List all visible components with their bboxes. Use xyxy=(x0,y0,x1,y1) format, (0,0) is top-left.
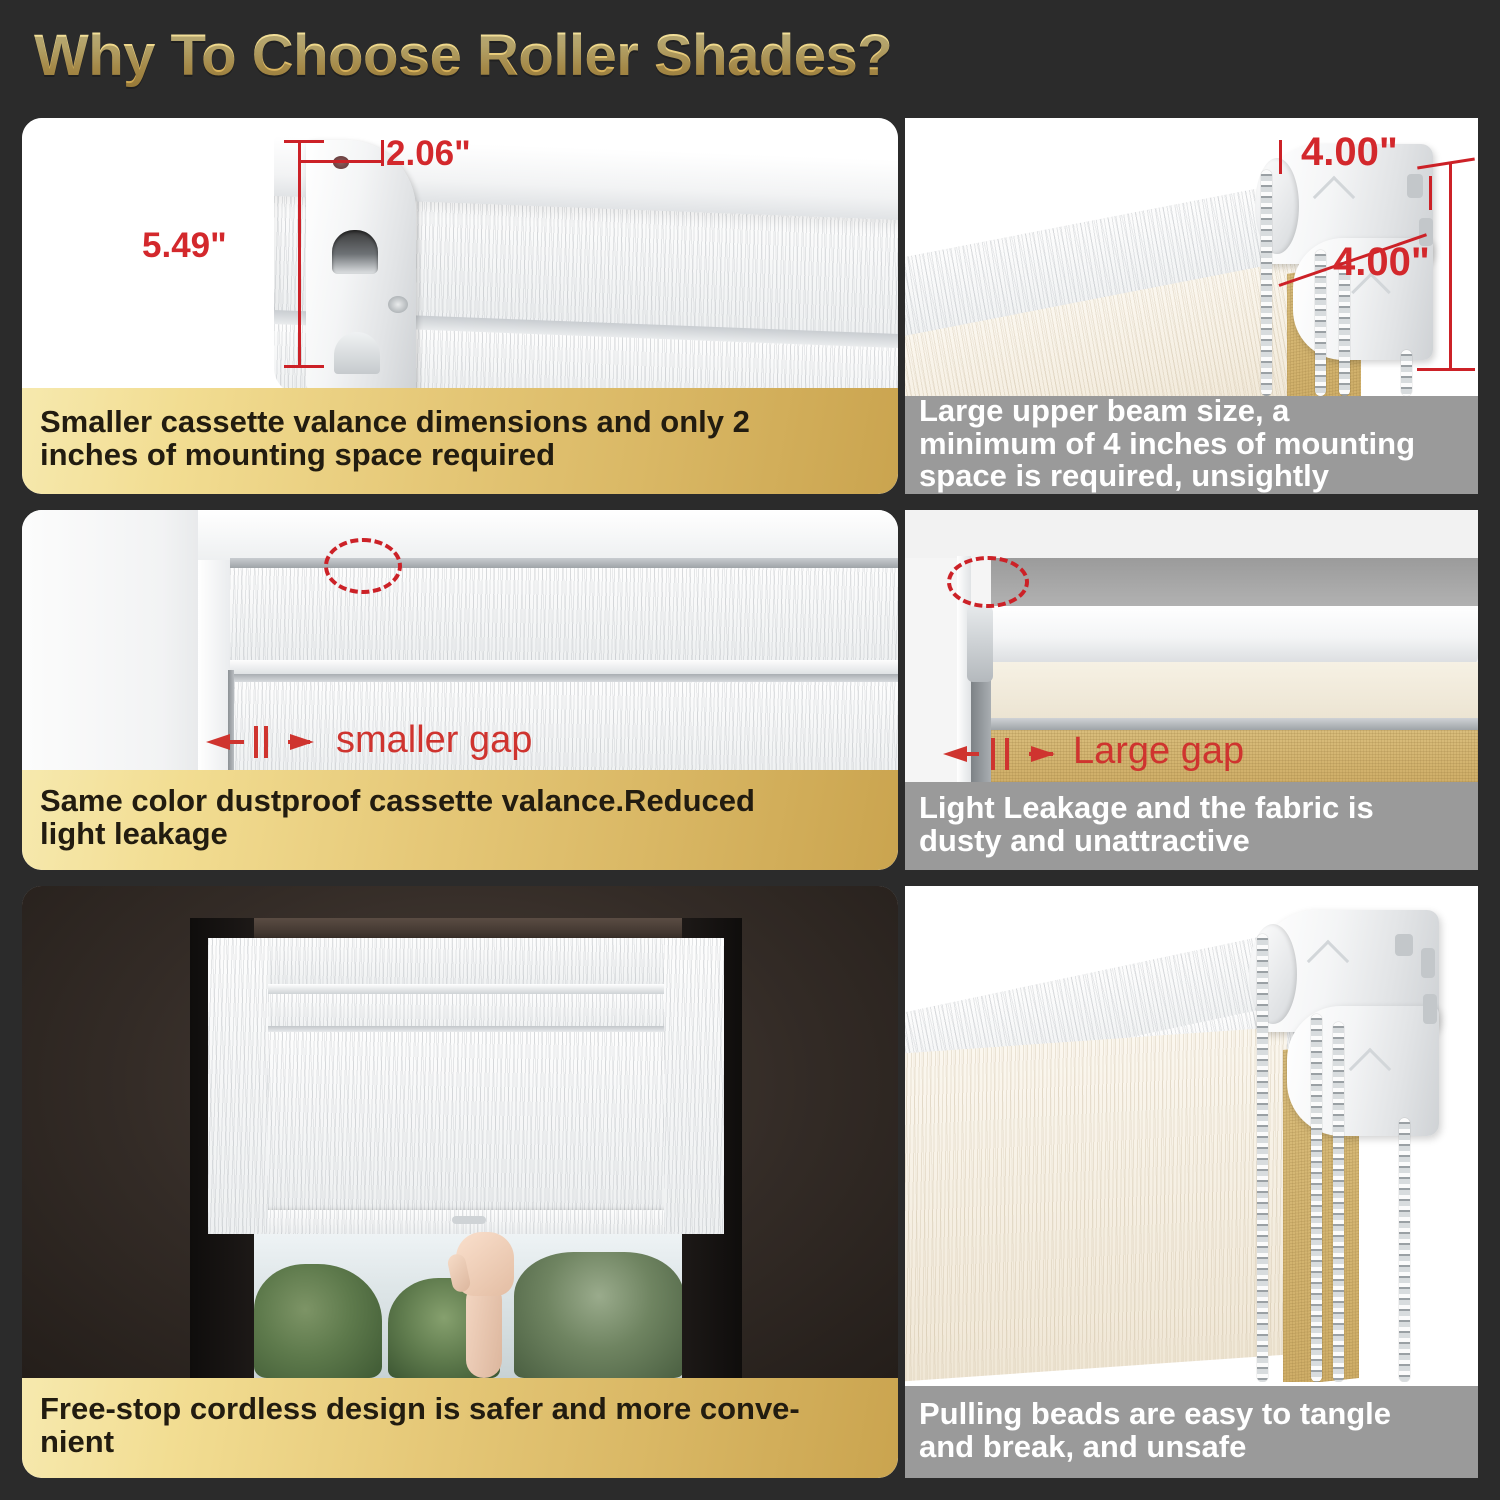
dim-width-tick-right xyxy=(381,140,384,166)
dim-height-label: 5.49" xyxy=(142,226,227,266)
roller-bottom-edge xyxy=(965,718,1478,730)
shade-pull-handle xyxy=(452,1216,486,1224)
shade-overlap-left xyxy=(208,938,268,1234)
bracket-slot-upper xyxy=(1407,174,1423,198)
cassette-valance-lip xyxy=(230,660,898,674)
panel-pulling-beads: Pulling beads are easy to tangle and bre… xyxy=(905,886,1478,1478)
caption-line-2: dusty and unattractive xyxy=(919,825,1374,858)
cassette-valance-face xyxy=(230,568,898,664)
smaller-gap-label: smaller gap xyxy=(336,719,532,762)
window-head-trim xyxy=(190,918,742,938)
tree-foliage-left xyxy=(254,1264,382,1378)
bead-chain-4 xyxy=(1401,350,1412,396)
hand-forearm xyxy=(466,1282,502,1378)
caption-line-3: space is required, unsightly xyxy=(919,460,1415,493)
roller-tube-white xyxy=(965,606,1478,668)
caption-line-2: minimum of 4 inches of mounting xyxy=(919,428,1415,461)
page-title: Why To Choose Roller Shades? xyxy=(34,22,892,89)
panel-free-stop-cordless: Free-stop cordless design is safer and m… xyxy=(22,886,898,1478)
window-frame-header xyxy=(198,510,898,560)
dim-height-line xyxy=(298,140,301,368)
window-frame-left-jamb xyxy=(22,510,222,780)
caption-line-2: and break, and unsafe xyxy=(919,1431,1391,1464)
gap-highlight-circle xyxy=(947,556,1029,608)
caption-cassette-valance-dimensions: Smaller cassette valance dimensions and … xyxy=(22,388,898,494)
beam-dim-width-tick-left xyxy=(1279,140,1282,174)
large-gap-arrows xyxy=(939,734,1069,774)
dim-width-line xyxy=(298,160,384,163)
beads-bracket-slot-3 xyxy=(1423,994,1437,1024)
dim-width-label: 2.06" xyxy=(386,134,471,174)
caption-line-1: Large upper beam size, a xyxy=(919,395,1415,428)
bead-chain-2 xyxy=(1311,1014,1322,1382)
bead-chain-4 xyxy=(1399,1118,1410,1382)
end-cap-roller-slot xyxy=(332,230,378,274)
large-upper-beam-photo: 4.00" 4.00" xyxy=(905,118,1478,396)
cassette-valance-photo: 2.06" 5.49" xyxy=(22,118,898,388)
beam-dim-height-label: 4.00" xyxy=(1333,240,1430,285)
beam-dim-width-label: 4.00" xyxy=(1301,130,1398,175)
bead-chain-1 xyxy=(1257,934,1268,1382)
shade-main-fabric xyxy=(218,1032,718,1214)
shade-upper-band xyxy=(208,994,724,1030)
beads-hanging-fabric xyxy=(905,1027,1287,1382)
pulling-beads-photo xyxy=(905,886,1478,1382)
light-leakage-photo: Large gap xyxy=(905,510,1478,782)
roller-fabric-cream-band xyxy=(965,662,1478,720)
end-cap-screw-mid xyxy=(388,296,408,313)
cassette-roll-shadow xyxy=(230,674,898,682)
dim-height-tick-top xyxy=(284,140,324,143)
shade-valance xyxy=(208,938,724,988)
end-cap-bottom-clip xyxy=(334,332,380,374)
shade-overlap-right xyxy=(664,938,724,1234)
caption-light-leakage: Light Leakage and the fabric is dusty an… xyxy=(905,782,1478,870)
gap-highlight-circle xyxy=(324,538,402,594)
caption-line-2: light leakage xyxy=(40,818,755,851)
dustproof-cassette-photo: smaller gap xyxy=(22,510,898,780)
bead-chain-3 xyxy=(1333,1022,1344,1382)
caption-line-2: inches of mounting space required xyxy=(40,439,750,472)
roller-end-mechanism xyxy=(967,606,993,682)
caption-pulling-beads: Pulling beads are easy to tangle and bre… xyxy=(905,1386,1478,1478)
panel-light-leakage: Large gap Light Leakage and the fabric i… xyxy=(905,510,1478,870)
bead-chain-1 xyxy=(1261,170,1272,396)
panel-dustproof-cassette: smaller gap Same color dustproof cassett… xyxy=(22,510,898,870)
caption-line-1: Light Leakage and the fabric is xyxy=(919,792,1374,825)
caption-large-upper-beam: Large upper beam size, a minimum of 4 in… xyxy=(905,396,1478,494)
caption-line-1: Same color dustproof cassette valance.Re… xyxy=(40,785,755,818)
caption-dustproof-cassette: Same color dustproof cassette valance.Re… xyxy=(22,770,898,870)
panel-cassette-valance-dimensions: 2.06" 5.49" Smaller cassette valance dim… xyxy=(22,118,898,494)
tree-foliage-right xyxy=(514,1252,684,1378)
large-gap-label: Large gap xyxy=(1073,730,1244,773)
caption-line-1: Free-stop cordless design is safer and m… xyxy=(40,1393,800,1426)
beam-dim-height-tick-bottom xyxy=(1417,368,1475,371)
beam-dim-height-line xyxy=(1449,162,1452,370)
valance-lower-lip xyxy=(208,984,724,994)
infographic-root: Why To Choose Roller Shades? 2.06" xyxy=(0,0,1500,1500)
smaller-gap-arrows xyxy=(202,722,332,762)
wall-background xyxy=(905,510,1478,558)
beads-bracket-slot-2 xyxy=(1421,948,1435,978)
panel-large-upper-beam: 4.00" 4.00" Large upper beam size, a min… xyxy=(905,118,1478,494)
dim-height-tick-bottom xyxy=(284,365,324,368)
free-stop-cordless-photo xyxy=(22,886,898,1378)
caption-line-1: Pulling beads are easy to tangle xyxy=(919,1398,1391,1431)
caption-line-2: nient xyxy=(40,1426,800,1459)
caption-free-stop-cordless: Free-stop cordless design is safer and m… xyxy=(22,1378,898,1478)
caption-line-1: Smaller cassette valance dimensions and … xyxy=(40,406,750,439)
beads-bracket-slot-1 xyxy=(1395,934,1413,956)
beam-dim-width-tick-right xyxy=(1429,176,1432,210)
